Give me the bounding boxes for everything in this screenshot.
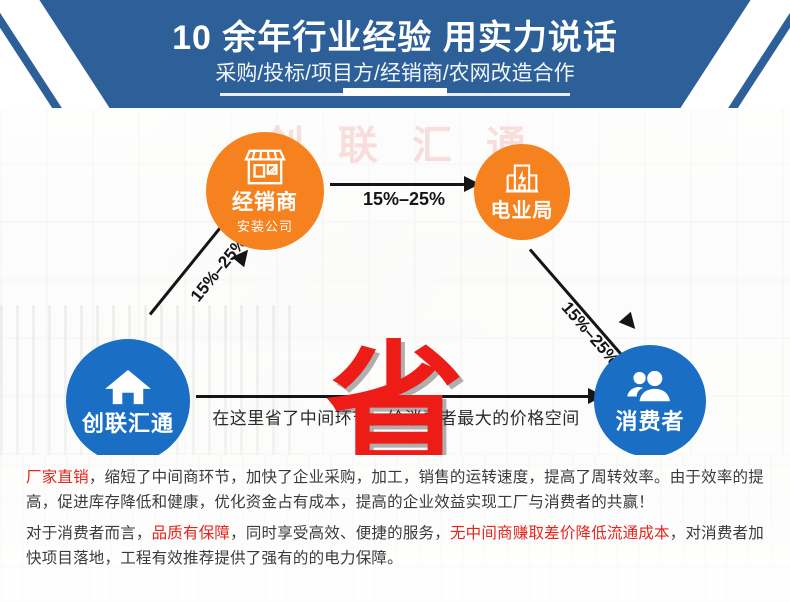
paragraph-2: 对于消费者而言，品质有保障，同时享受高效、便捷的服务，无中间商赚取差价降低流通成… [26,521,772,571]
node-factory[interactable]: 创联汇通 [66,339,190,455]
paragraph-2-highlight-2: 无中间商赚取差价降低流通成本 [450,525,670,542]
node-consumer-label: 消费者 [615,410,684,433]
arrow-dealer-to-bureau [330,183,470,186]
flow-diagram: 创联汇通 15%–25% 15%–25% 15%–25% 在这里省了中间环节，给… [0,108,790,455]
users-icon [626,369,674,410]
paragraph-2-mid: ，同时享受高效、便捷的服务， [230,525,450,542]
house-icon [104,367,152,412]
arrow-dealer-to-bureau-label: 15%–25% [334,189,474,210]
node-consumer[interactable]: 消费者 [594,345,706,455]
node-factory-label: 创联汇通 [82,412,174,435]
header-subtitle: 采购/投标/项目方/经销商/农网改造合作 [0,57,790,87]
header-divider-accent [0,88,790,96]
paragraph-1: 厂家直销，缩短了中间商环节，加快了企业采购，加工，销售的运转速度，提高了周转效率… [26,465,772,515]
node-bureau-label: 电业局 [491,201,554,222]
node-dealer-label: 经销商 [232,192,298,214]
promo-banner: 10 余年行业经验 用实力说话 采购/投标/项目方/经销商/农网改造合作 创联汇… [0,0,790,602]
paragraph-2-highlight-1: 品质有保障 [152,525,231,542]
node-bureau[interactable]: 电业局 [474,144,570,240]
power-building-icon [502,162,542,201]
header-title: 10 余年行业经验 用实力说话 [0,10,790,59]
shop-icon [242,147,288,192]
banner-header: 10 余年行业经验 用实力说话 采购/投标/项目方/经销商/农网改造合作 [0,0,790,108]
watermark-text: 创联汇通 [0,113,790,171]
node-dealer-sublabel: 安装公司 [237,216,293,235]
paragraph-1-body: ，缩短了中间商环节，加快了企业采购，加工，销售的运转速度，提高了周转效率。由于效… [26,469,764,511]
node-dealer[interactable]: 经销商 安装公司 [206,132,324,250]
footer-description: 厂家直销，缩短了中间商环节，加快了企业采购，加工，销售的运转速度，提高了周转效率… [0,455,790,602]
paragraph-1-highlight: 厂家直销 [26,469,89,486]
paragraph-2-lead: 对于消费者而言， [26,525,152,542]
